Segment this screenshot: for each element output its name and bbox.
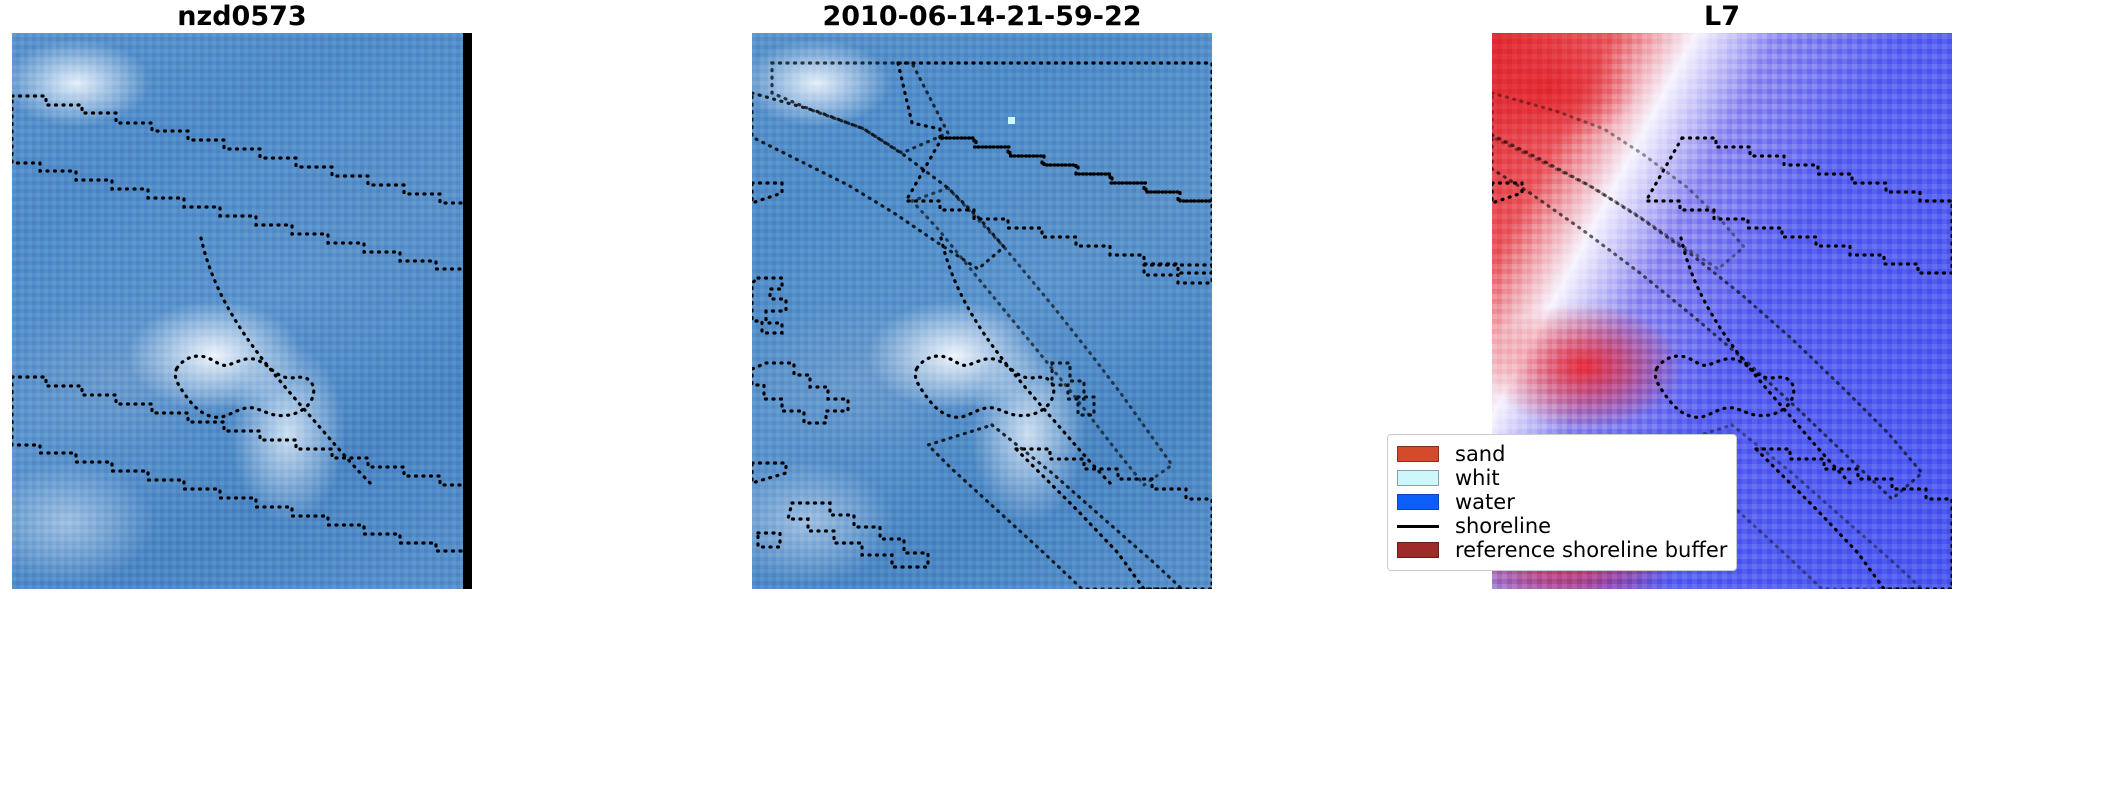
legend-label-reference-shoreline-buffer: reference shoreline buffer [1455, 538, 1727, 562]
panel-title-1: nzd0573 [12, 2, 472, 32]
classification-raster-texture [752, 33, 1212, 589]
panel-2-scene [752, 33, 1212, 589]
panel-title-3: L7 [1492, 2, 1952, 32]
legend-swatch-sand-icon [1397, 446, 1439, 462]
legend: sand whit water shoreline reference shor… [1387, 434, 1737, 571]
panel-1-scene [12, 33, 472, 589]
legend-label-shoreline: shoreline [1455, 514, 1551, 538]
panel-title-2: 2010-06-14-21-59-22 [752, 2, 1212, 32]
legend-item-reference-shoreline-buffer: reference shoreline buffer [1397, 538, 1727, 562]
legend-swatch-reference-buffer-icon [1397, 542, 1439, 558]
figure-canvas: nzd0573 2010-06-14-21-59-22 L7 [0, 0, 2122, 809]
panel-rgb-image[interactable] [12, 33, 472, 589]
rgb-raster-texture [12, 33, 472, 589]
legend-swatch-white-water-icon [1397, 470, 1439, 486]
legend-swatch-shoreline-icon [1397, 525, 1439, 528]
legend-item-shoreline: shoreline [1397, 514, 1727, 538]
image-right-edge-nodata [463, 33, 472, 589]
rgb-raster [12, 33, 472, 589]
legend-item-sand: sand [1397, 442, 1727, 466]
legend-swatch-water-icon [1397, 494, 1439, 510]
legend-label-sand: sand [1455, 442, 1505, 466]
classification-base-raster [752, 33, 1212, 589]
panel-classification-overlay[interactable] [752, 33, 1212, 589]
legend-item-water: water [1397, 490, 1727, 514]
legend-item-white-water: whit [1397, 466, 1727, 490]
legend-label-water: water [1455, 490, 1515, 514]
legend-label-white-water: whit [1455, 466, 1500, 490]
